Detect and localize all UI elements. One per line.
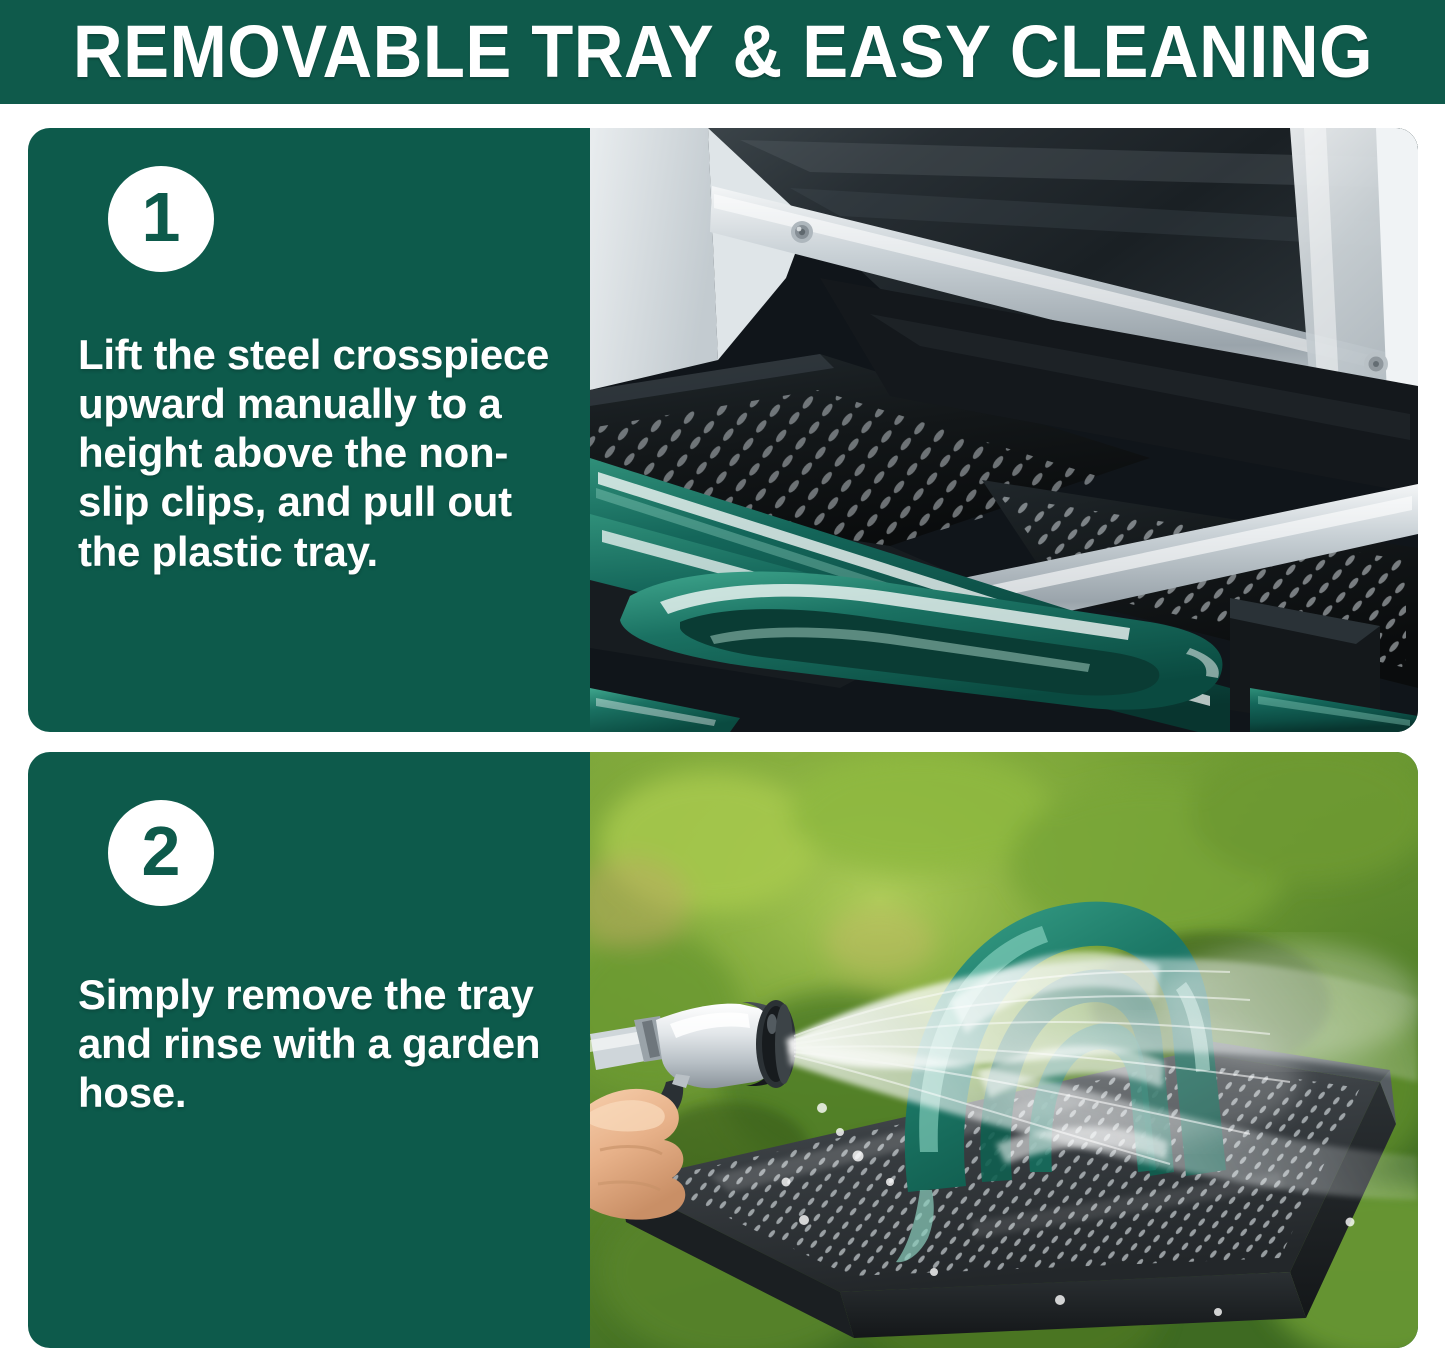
step-panel-2: 2 Simply remove the tray and rinse with …	[28, 752, 1418, 1348]
step-2-text-column: 2 Simply remove the tray and rinse with …	[28, 752, 590, 1348]
step-1-description: Lift the steel crosspiece upward manuall…	[78, 330, 568, 576]
step-2-photo	[590, 752, 1418, 1348]
step-1-number: 1	[142, 182, 181, 252]
step-2-badge: 2	[108, 800, 214, 906]
header-banner: REMOVABLE TRAY & EASY CLEANING	[0, 0, 1445, 104]
step-1-photo	[590, 128, 1418, 732]
step-panel-1: 1 Lift the steel crosspiece upward manua…	[28, 128, 1418, 732]
step-2-description: Simply remove the tray and rinse with a …	[78, 970, 568, 1117]
step-1-badge: 1	[108, 166, 214, 272]
page-title: REMOVABLE TRAY & EASY CLEANING	[72, 15, 1372, 89]
step-2-number: 2	[142, 816, 181, 886]
step-1-text-column: 1 Lift the steel crosspiece upward manua…	[28, 128, 590, 732]
